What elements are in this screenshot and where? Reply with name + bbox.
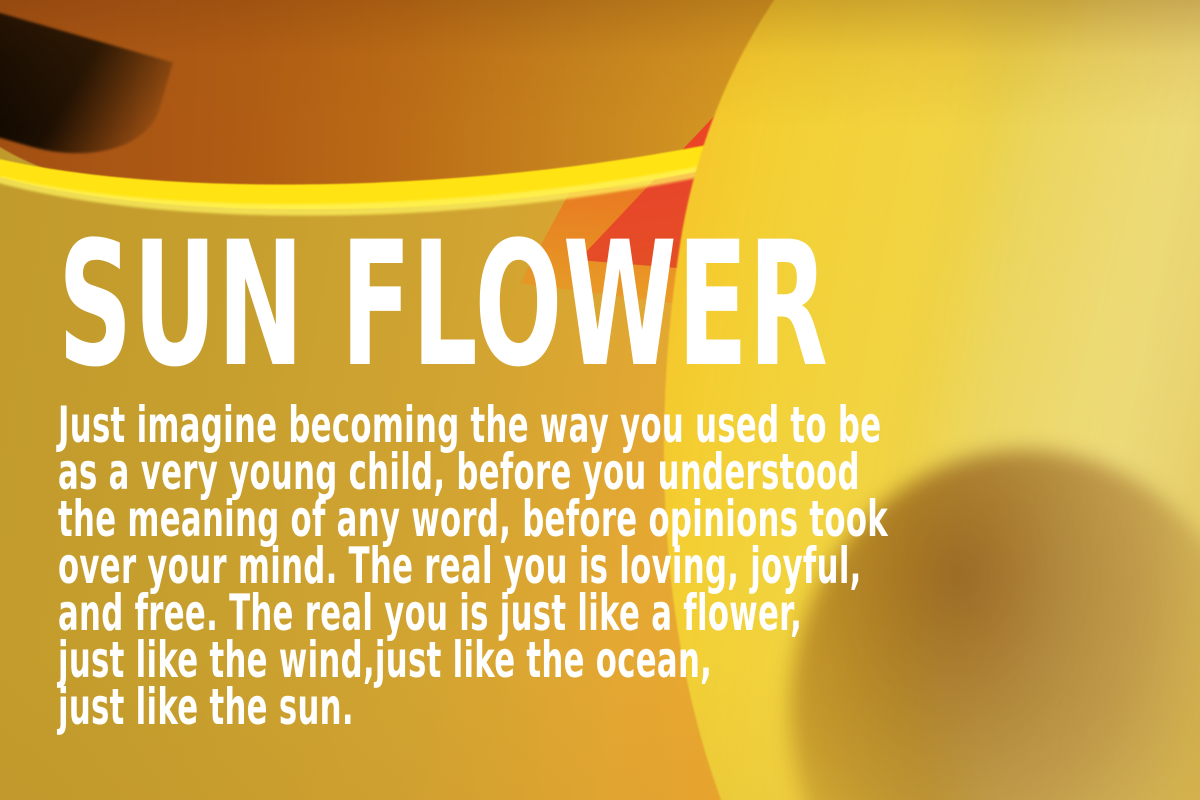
poster-title: SUN FLOWER (58, 226, 514, 384)
poster-text-block: SUN FLOWER Just imagine becoming the way… (58, 226, 818, 731)
poster-canvas: SUN FLOWER Just imagine becoming the way… (0, 0, 1200, 800)
body-line: as a very young child, before you unders… (58, 449, 525, 496)
body-line: just like the wind,just like the ocean, (58, 637, 525, 684)
poster-body-text: Just imagine becoming the way you used t… (58, 402, 525, 731)
body-line: Just imagine becoming the way you used t… (58, 402, 525, 449)
body-line: the meaning of any word, before opinions… (58, 496, 525, 543)
body-line: and free. The real you is just like a fl… (58, 590, 525, 637)
body-line: just like the sun. (58, 684, 525, 731)
background-top-brown-band (0, 0, 1072, 235)
background-black-notch (0, 10, 173, 178)
body-line: over your mind. The real you is loving, … (58, 543, 525, 590)
background-tube-highlight (851, 0, 1200, 800)
